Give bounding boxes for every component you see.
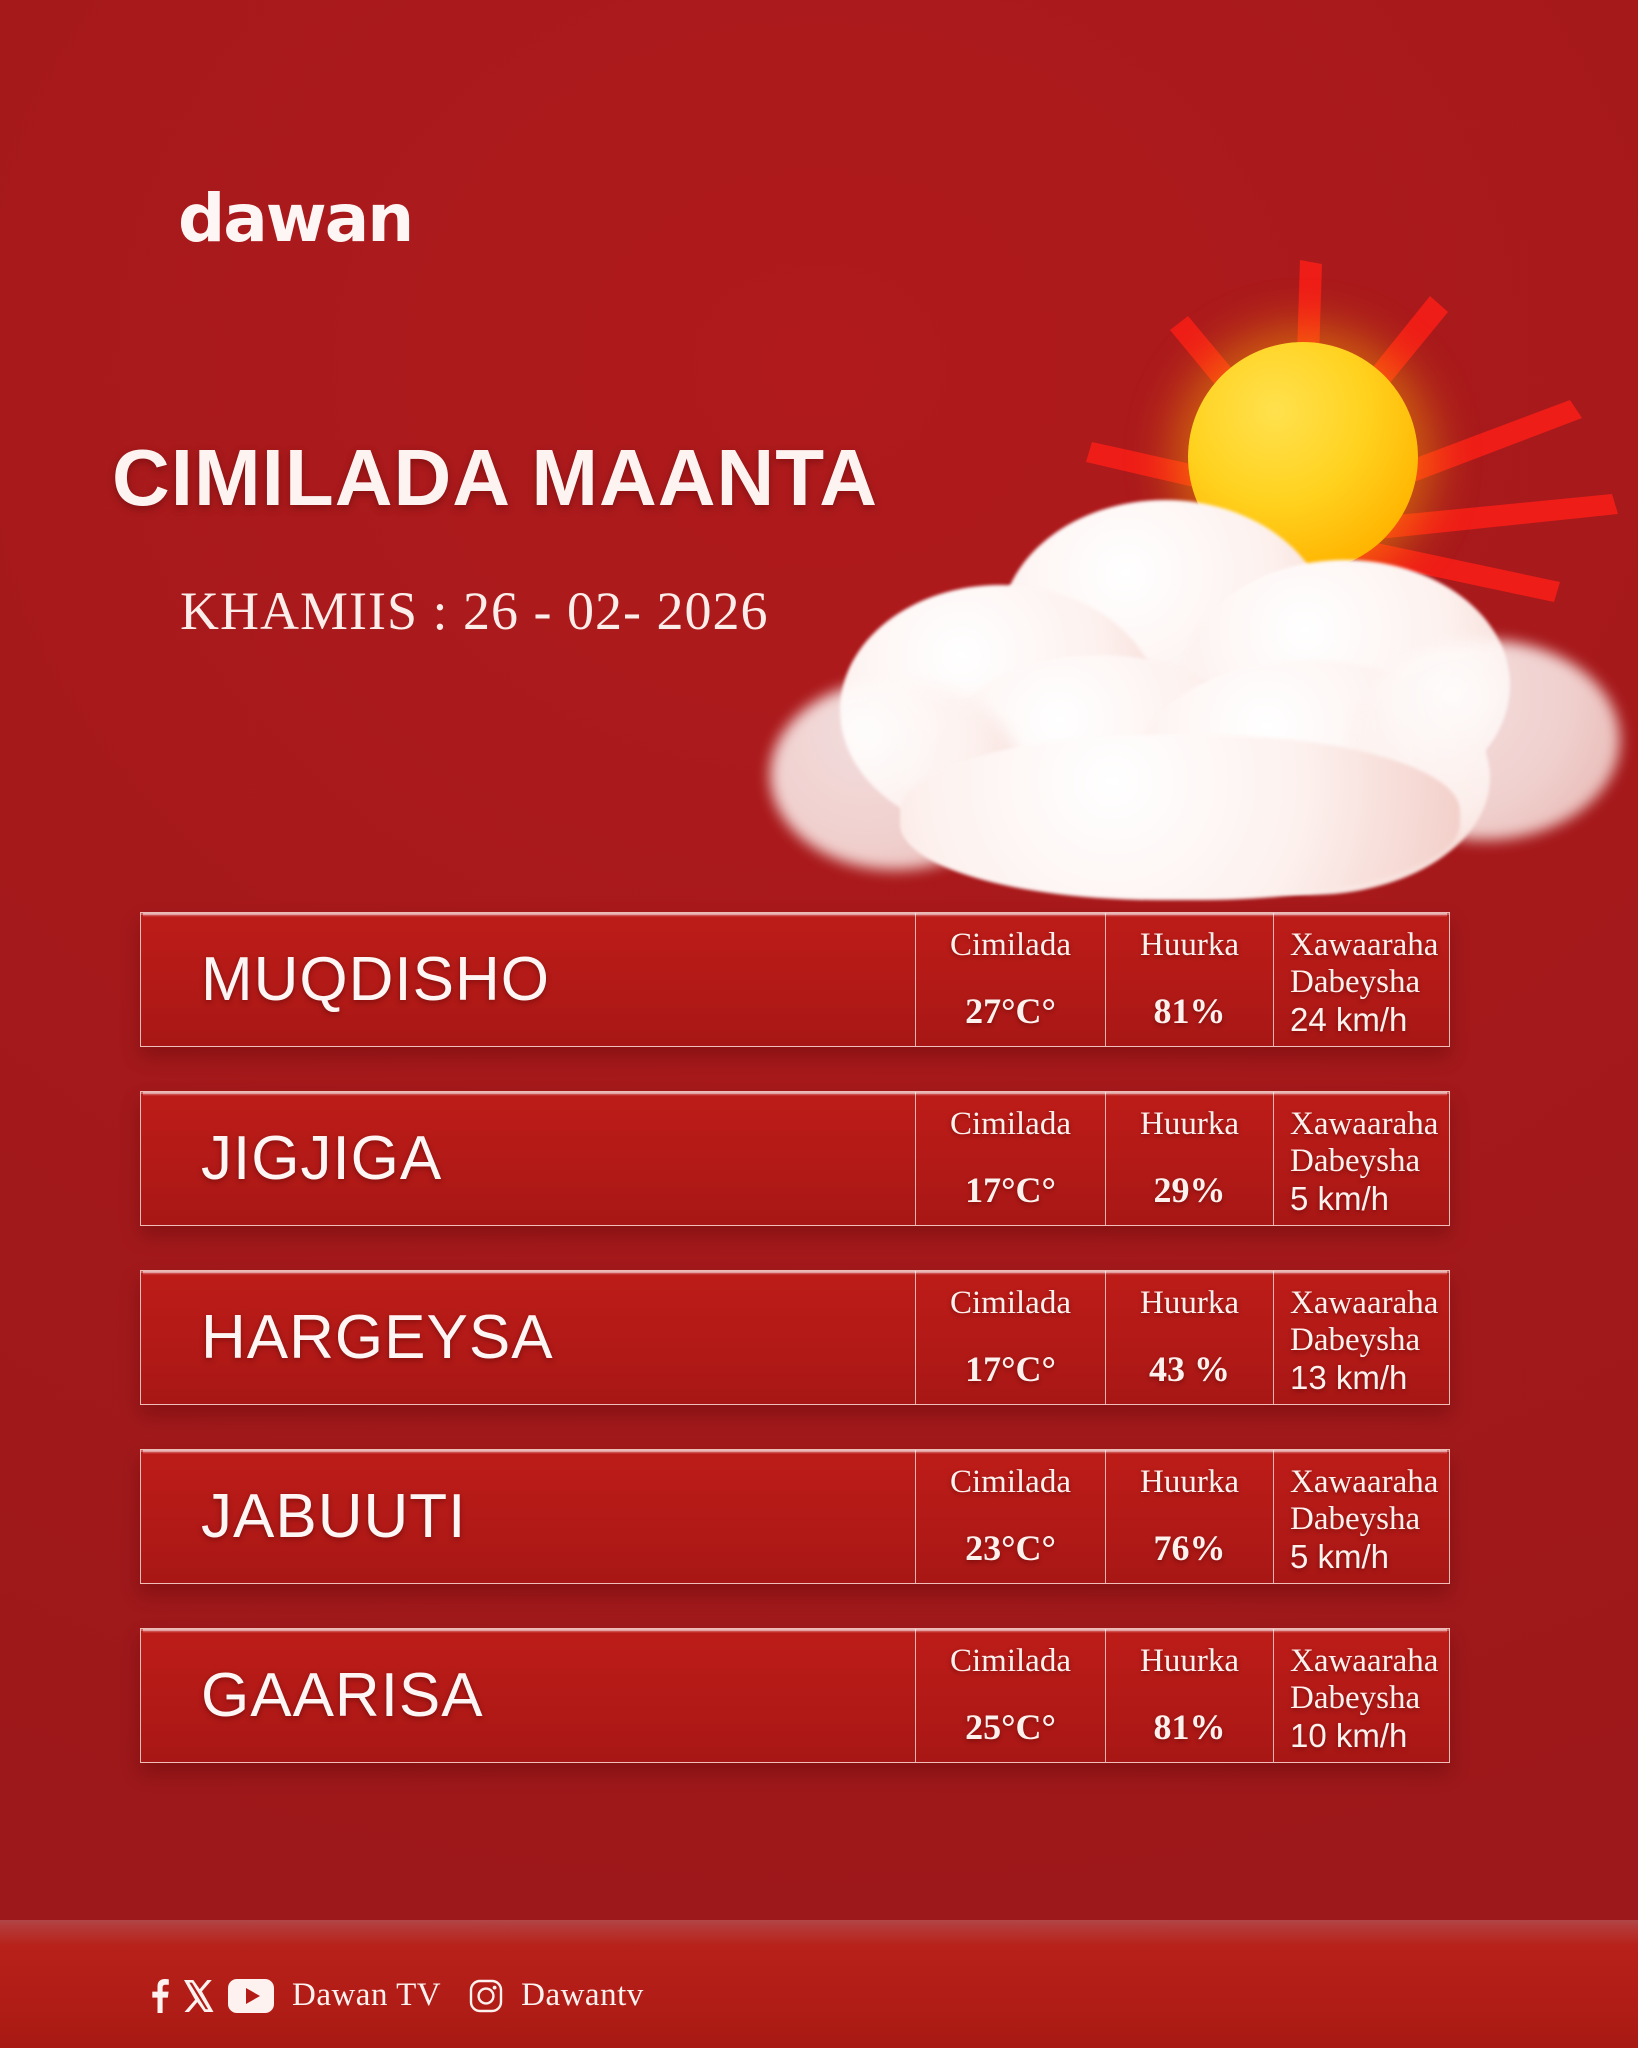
wind-cell: Xawaaraha Dabeysha 13 km/h [1273,1271,1449,1404]
humidity-value: 81% [1106,990,1273,1032]
wind-value: 5 km/h [1288,1180,1449,1218]
humidity-value: 43 % [1106,1348,1273,1390]
temperature-value: 25°C° [916,1706,1105,1748]
cloud-icon [750,490,1638,910]
metrics-group: Cimilada 17°C° Huurka 29% Xawaaraha Dabe… [915,1092,1449,1225]
wind-label: Xawaaraha Dabeysha [1288,1106,1449,1180]
metrics-group: Cimilada 17°C° Huurka 43 % Xawaaraha Dab… [915,1271,1449,1404]
poster-canvas: dawan CIMILADA [0,0,1638,2048]
wind-value: 13 km/h [1288,1359,1449,1397]
humidity-value: 29% [1106,1169,1273,1211]
table-row[interactable]: HARGEYSA Cimilada 17°C° Huurka 43 % Xawa… [140,1270,1450,1405]
humidity-cell: Huurka 43 % [1105,1271,1273,1404]
table-row[interactable]: JABUUTI Cimilada 23°C° Huurka 76% Xawaar… [140,1449,1450,1584]
temperature-cell: Cimilada 25°C° [915,1629,1105,1762]
page-title: CIMILADA MAANTA [112,432,878,524]
weather-illustration [870,250,1638,910]
table-row[interactable]: GAARISA Cimilada 25°C° Huurka 81% Xawaar… [140,1628,1450,1763]
table-row[interactable]: JIGJIGA Cimilada 17°C° Huurka 29% Xawaar… [140,1091,1450,1226]
wind-label: Xawaaraha Dabeysha [1288,1643,1449,1717]
humidity-cell: Huurka 81% [1105,913,1273,1046]
temperature-value: 23°C° [916,1527,1105,1569]
forecast-table: MUQDISHO Cimilada 27°C° Huurka 81% Xawaa… [140,912,1450,1807]
youtube-icon[interactable] [228,1979,274,2013]
temperature-cell: Cimilada 17°C° [915,1092,1105,1225]
x-twitter-icon[interactable] [184,1980,214,2012]
wind-cell: Xawaaraha Dabeysha 5 km/h [1273,1092,1449,1225]
humidity-label: Huurka [1106,1464,1273,1501]
instagram-handle[interactable]: Dawantv [521,1977,644,2014]
wind-cell: Xawaaraha Dabeysha 24 km/h [1273,913,1449,1046]
temperature-cell: Cimilada 17°C° [915,1271,1105,1404]
youtube-handle[interactable]: Dawan TV [292,1977,441,2014]
temperature-cell: Cimilada 27°C° [915,913,1105,1046]
footer-bar: Dawan TV Dawantv [0,1920,1638,2048]
wind-label: Xawaaraha Dabeysha [1288,927,1449,1001]
wind-cell: Xawaaraha Dabeysha 10 km/h [1273,1629,1449,1762]
metrics-group: Cimilada 27°C° Huurka 81% Xawaaraha Dabe… [915,913,1449,1046]
city-name: JIGJIGA [141,1092,915,1225]
temperature-label: Cimilada [916,927,1105,964]
wind-cell: Xawaaraha Dabeysha 5 km/h [1273,1450,1449,1583]
wind-value: 10 km/h [1288,1717,1449,1755]
city-name: HARGEYSA [141,1271,915,1404]
temperature-value: 17°C° [916,1348,1105,1390]
humidity-cell: Huurka 81% [1105,1629,1273,1762]
instagram-icon[interactable] [469,1979,503,2013]
temperature-label: Cimilada [916,1464,1105,1501]
temperature-value: 27°C° [916,990,1105,1032]
temperature-cell: Cimilada 23°C° [915,1450,1105,1583]
wind-label: Xawaaraha Dabeysha [1288,1285,1449,1359]
humidity-label: Huurka [1106,1285,1273,1322]
city-name: GAARISA [141,1629,915,1762]
humidity-label: Huurka [1106,1643,1273,1680]
humidity-label: Huurka [1106,1106,1273,1143]
humidity-label: Huurka [1106,927,1273,964]
temperature-label: Cimilada [916,1285,1105,1322]
metrics-group: Cimilada 23°C° Huurka 76% Xawaaraha Dabe… [915,1450,1449,1583]
dawan-logo: dawan [178,186,412,252]
facebook-icon[interactable] [148,1979,170,2013]
temperature-value: 17°C° [916,1169,1105,1211]
humidity-value: 76% [1106,1527,1273,1569]
table-row[interactable]: MUQDISHO Cimilada 27°C° Huurka 81% Xawaa… [140,912,1450,1047]
social-links: Dawan TV Dawantv [148,1977,644,2014]
wind-value: 5 km/h [1288,1538,1449,1576]
humidity-cell: Huurka 29% [1105,1092,1273,1225]
wind-label: Xawaaraha Dabeysha [1288,1464,1449,1538]
date-line: KHAMIIS : 26 - 02- 2026 [180,580,768,642]
city-name: JABUUTI [141,1450,915,1583]
humidity-value: 81% [1106,1706,1273,1748]
metrics-group: Cimilada 25°C° Huurka 81% Xawaaraha Dabe… [915,1629,1449,1762]
humidity-cell: Huurka 76% [1105,1450,1273,1583]
wind-value: 24 km/h [1288,1001,1449,1039]
city-name: MUQDISHO [141,913,915,1046]
temperature-label: Cimilada [916,1643,1105,1680]
temperature-label: Cimilada [916,1106,1105,1143]
